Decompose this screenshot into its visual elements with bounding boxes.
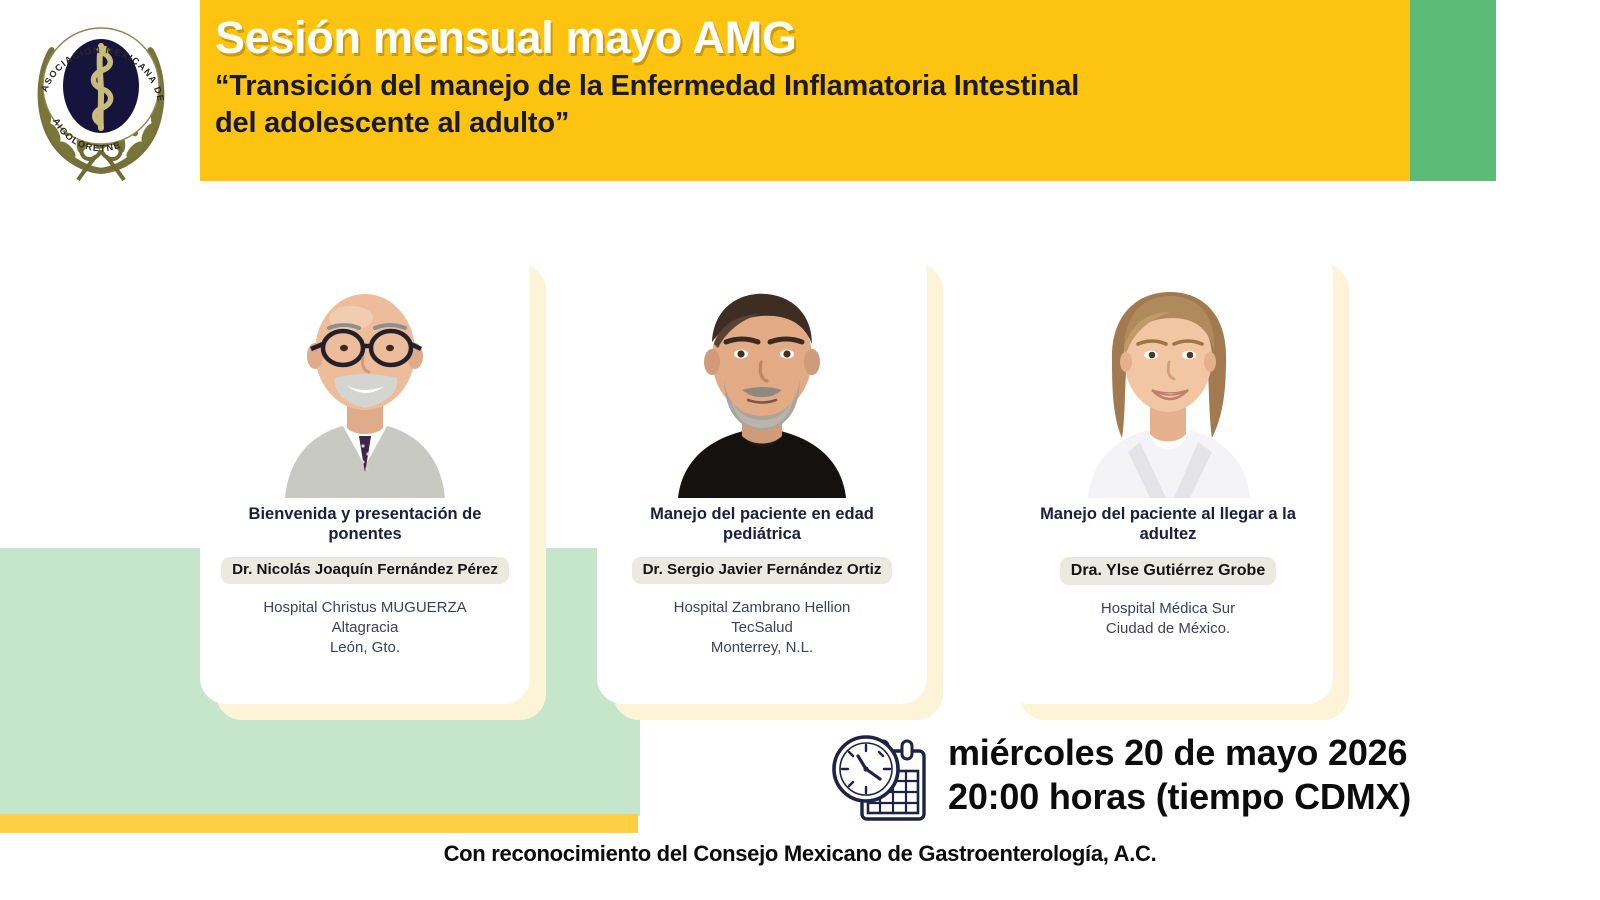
speaker-card: Manejo del paciente al llegar a la adult… — [1003, 248, 1333, 704]
speaker-card-body: Manejo del paciente al llegar a la adult… — [1003, 248, 1333, 704]
portrait-photo-ylse — [1054, 266, 1282, 498]
speaker-card-body: Manejo del paciente en edad pediátrica D… — [597, 248, 927, 704]
speaker-card-body: Bienvenida y presentación de ponentes Dr… — [200, 248, 530, 704]
speaker-role: Manejo del paciente en edad pediátrica — [597, 504, 927, 544]
footer-recognition-text: Con reconocimiento del Consejo Mexicano … — [444, 841, 1157, 867]
portrait-photo-nicolas — [251, 266, 479, 498]
speaker-name-badge: Dra. Ylse Gutiérrez Grobe — [1060, 557, 1276, 585]
affiliation-line-3: León, Gto. — [263, 638, 466, 658]
speaker-name-badge: Dr. Sergio Javier Fernández Ortiz — [632, 557, 893, 584]
footer: Con reconocimiento del Consejo Mexicano … — [0, 841, 1600, 867]
speaker-affiliation: Hospital Zambrano Hellion TecSalud Monte… — [674, 598, 851, 657]
event-date: miércoles 20 de mayo 2026 — [948, 731, 1411, 775]
event-time: 20:00 horas (tiempo CDMX) — [948, 775, 1411, 819]
affiliation-line-2: Altagracia — [263, 618, 466, 638]
speaker-role: Manejo del paciente al llegar a la adult… — [1003, 504, 1333, 544]
portrait-photo-sergio — [648, 266, 876, 498]
affiliation-line-1: Hospital Zambrano Hellion — [674, 598, 851, 618]
poster-canvas: ASOCIACION MEXICANA DE GASTRO AIGOLORETN… — [0, 0, 1600, 900]
speaker-card: Manejo del paciente en edad pediátrica D… — [597, 248, 927, 704]
datetime-block: miércoles 20 de mayo 2026 20:00 horas (t… — [822, 725, 1442, 825]
affiliation-line-2: Ciudad de México. — [1101, 619, 1235, 639]
clock-calendar-icon — [822, 725, 942, 825]
speaker-name-badge: Dr. Nicolás Joaquín Fernández Pérez — [221, 557, 509, 584]
speaker-affiliation: Hospital Médica Sur Ciudad de México. — [1101, 599, 1235, 639]
speaker-card: Bienvenida y presentación de ponentes Dr… — [200, 248, 530, 704]
affiliation-line-1: Hospital Christus MUGUERZA — [263, 598, 466, 618]
datetime-text: miércoles 20 de mayo 2026 20:00 horas (t… — [948, 731, 1411, 819]
affiliation-line-2: TecSalud — [674, 618, 851, 638]
affiliation-line-1: Hospital Médica Sur — [1101, 599, 1235, 619]
speaker-role: Bienvenida y presentación de ponentes — [200, 504, 530, 544]
speaker-affiliation: Hospital Christus MUGUERZA Altagracia Le… — [263, 598, 466, 657]
affiliation-line-3: Monterrey, N.L. — [674, 638, 851, 658]
